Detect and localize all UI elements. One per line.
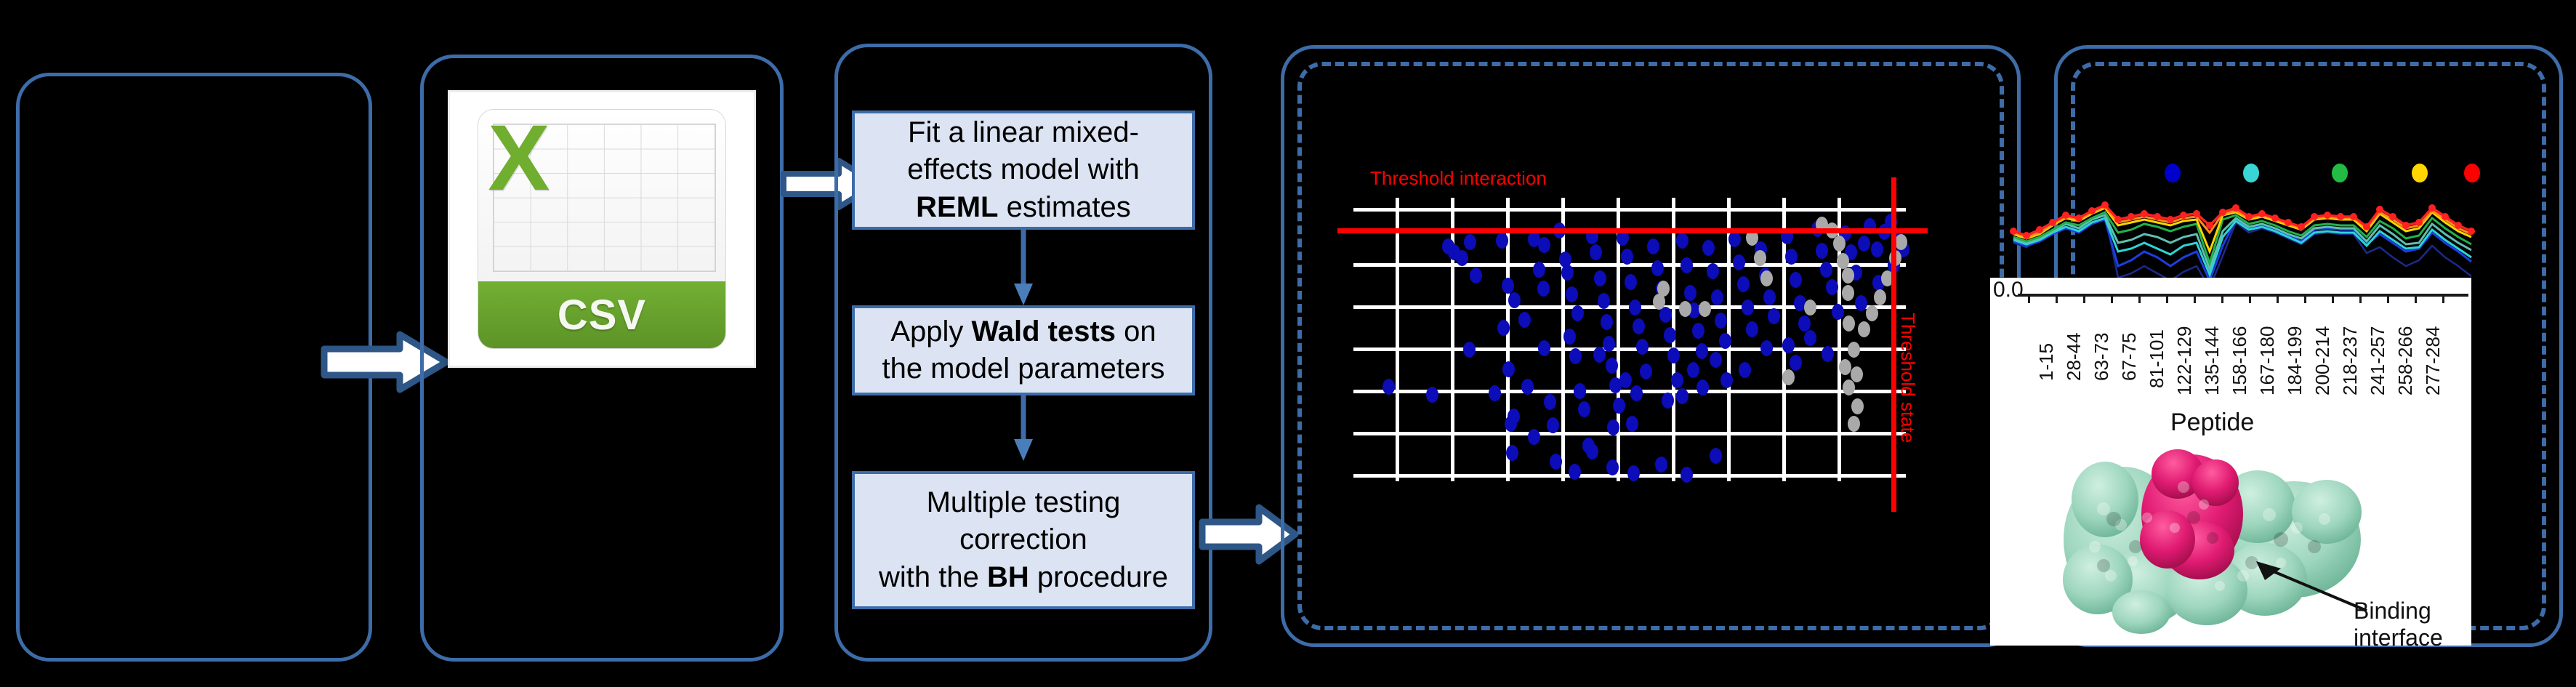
scatter-point — [1760, 340, 1773, 356]
x-axis-tick — [2249, 294, 2251, 303]
scatter-point — [1489, 385, 1501, 401]
scatter-point — [1629, 300, 1641, 316]
scatter-point — [1505, 416, 1517, 432]
scatter-point — [1607, 419, 1619, 435]
scatter-point — [1463, 342, 1476, 358]
peptide-tick-label: 167-180 — [2256, 326, 2279, 395]
scatter-point — [1655, 457, 1667, 473]
scatter-point — [1720, 372, 1733, 388]
scatter-point — [1456, 250, 1468, 266]
x-axis-tick — [2277, 294, 2279, 303]
scatter-point-ns — [1699, 301, 1711, 317]
grid-line-h — [1353, 208, 1906, 212]
scatter-point — [1855, 295, 1867, 311]
y-axis-tick-label: 0.0 — [1993, 278, 2024, 302]
scatter-point — [1619, 372, 1632, 388]
scatter-point — [1426, 387, 1438, 403]
peptide-tick-label: 1-15 — [2035, 343, 2058, 381]
scatter-point — [1707, 263, 1719, 279]
scatter-point-ns — [1843, 316, 1855, 332]
scatter-point-ns — [1653, 294, 1665, 310]
x-axis-tick — [2387, 294, 2389, 303]
scatter-point — [1822, 346, 1834, 362]
scatter-point — [1636, 339, 1649, 355]
scatter-point — [1470, 268, 1482, 284]
threshold-interaction-label: Threshold interaction — [1370, 167, 1547, 190]
scatter-point — [1382, 379, 1395, 395]
scatter-point — [1702, 240, 1715, 256]
scatter-point — [1676, 388, 1689, 404]
scatter-point — [1710, 352, 1722, 368]
legend-dot-yellow — [2412, 164, 2428, 182]
scatter-point — [1464, 234, 1476, 250]
step-bh-post: procedure — [1029, 561, 1168, 593]
x-axis-tick — [2304, 294, 2306, 303]
scatter-point — [1566, 286, 1578, 302]
x-axis-tick — [2056, 294, 2058, 303]
legend-dot-cyan — [2243, 164, 2259, 182]
scatter-point-ns — [1851, 366, 1863, 382]
scatter-point — [1606, 358, 1618, 374]
step-bh-line2: correction — [959, 523, 1087, 555]
scatter-point — [1538, 340, 1550, 356]
x-axis-tick — [2028, 294, 2030, 303]
scatter-point — [1804, 330, 1816, 346]
peptide-tick-label: 200-214 — [2311, 326, 2334, 395]
scatter-point — [1692, 323, 1704, 339]
legend-dot-green — [2332, 164, 2348, 182]
csv-label: CSV — [558, 291, 646, 340]
step-reml-box[interactable]: Fit a linear mixed- effects model with R… — [852, 111, 1195, 230]
csv-icon-body: X CSV — [478, 109, 727, 350]
scatter-point — [1502, 361, 1515, 377]
scatter-point-ns — [1895, 234, 1907, 250]
step-reml-post: estimates — [999, 191, 1131, 223]
step-wald-pre: Apply — [890, 316, 971, 347]
line-chart-svg — [2006, 153, 2529, 284]
step-bh-text: Multiple testing correction with the BH … — [879, 484, 1168, 596]
scatter-point — [1696, 343, 1708, 359]
x-axis-line — [2018, 294, 2468, 297]
scatter-point — [1561, 265, 1574, 281]
scatter-point — [1816, 243, 1828, 259]
scatter-point — [1728, 231, 1741, 247]
peptide-line-chart — [2006, 153, 2529, 284]
x-axis-tick — [2332, 294, 2334, 303]
scatter-point — [1633, 318, 1645, 334]
peptide-tick-label: 67-75 — [2118, 333, 2141, 382]
peptide-tick-label: 28-44 — [2063, 333, 2085, 382]
step-wald-post: on — [1116, 316, 1156, 347]
step-reml-line1: Fit a linear mixed- — [908, 116, 1139, 148]
step-wald-bold: Wald tests — [972, 316, 1116, 347]
scatter-point — [1647, 238, 1659, 254]
scatter-point-ns — [1874, 289, 1886, 305]
x-axis-tick — [2415, 294, 2417, 303]
scatter-point — [1798, 316, 1811, 332]
scatter-point — [1785, 249, 1798, 265]
scatter-point — [1826, 279, 1838, 295]
scatter-point-ns — [1782, 369, 1795, 385]
scatter-point — [1613, 398, 1625, 414]
scatter-point-ns — [1858, 321, 1870, 337]
scatter-point — [1627, 465, 1640, 481]
scatter-point — [1651, 260, 1664, 276]
threshold-interaction-line — [1337, 228, 1928, 233]
peptide-tick-label: 277-284 — [2422, 326, 2444, 395]
step-wald-line2: the model parameters — [882, 353, 1164, 385]
x-axis-tick — [2442, 294, 2444, 303]
scatter-point-ns — [1848, 342, 1860, 358]
scatter-point-ns — [1760, 270, 1773, 286]
scatter-point — [1626, 416, 1638, 432]
scatter-point — [1625, 274, 1637, 290]
grid-line-v — [1396, 198, 1399, 481]
scatter-point — [1496, 233, 1508, 249]
peptide-tick-label: 158-166 — [2229, 326, 2251, 395]
scatter-point — [1763, 289, 1776, 305]
peptide-tick-label: 122-129 — [2173, 326, 2196, 395]
grid-line-h — [1353, 432, 1906, 435]
scatter-point — [1667, 347, 1680, 363]
scatter-point-ns — [1851, 398, 1864, 414]
scatter-point — [1574, 383, 1586, 399]
scatter-point — [1711, 289, 1723, 305]
csv-label-band: CSV — [478, 281, 726, 348]
step-wald-text: Apply Wald tests on the model parameters — [882, 313, 1164, 387]
scatter-point — [1630, 385, 1643, 401]
scatter-point — [1533, 262, 1545, 278]
scatter-point — [1790, 355, 1802, 371]
scatter-point — [1586, 443, 1598, 459]
threshold-state-label: Threshold state — [1896, 313, 1919, 443]
x-axis-tick — [2359, 294, 2362, 303]
peptide-tick-label: 241-257 — [2367, 326, 2389, 395]
step-wald-box[interactable]: Apply Wald tests on the model parameters — [852, 305, 1195, 395]
x-axis-tick — [2138, 294, 2141, 303]
scatter-point — [1684, 285, 1696, 301]
threshold-state-line — [1891, 177, 1896, 512]
scatter-point — [1547, 417, 1559, 433]
scatter-point-ns — [1837, 253, 1849, 269]
peptide-tick-label: 258-266 — [2394, 326, 2417, 395]
scatter-point — [1506, 445, 1518, 461]
scatter-point — [1606, 459, 1619, 475]
scatter-plot-area — [1353, 198, 1906, 481]
volcano-scatter-plot — [1353, 198, 1906, 481]
x-axis-tick — [2194, 294, 2196, 303]
step-bh-bold: BH — [987, 561, 1029, 593]
scatter-point — [1710, 448, 1722, 464]
scatter-point — [1497, 320, 1510, 336]
peptide-structure-card: 0.0 1-15 28-44 63-73 67-75 81-101 122-12… — [1990, 278, 2471, 646]
peptide-tick-label: 135-144 — [2201, 326, 2223, 395]
scatter-point — [1681, 257, 1693, 273]
scatter-point — [1681, 467, 1693, 483]
scatter-point — [1790, 272, 1802, 288]
scatter-point — [1593, 347, 1606, 363]
step-bh-box[interactable]: Multiple testing correction with the BH … — [852, 471, 1195, 609]
scatter-point — [1733, 254, 1745, 270]
scatter-point — [1578, 401, 1590, 417]
scatter-point — [1502, 278, 1514, 294]
scatter-point — [1544, 394, 1556, 410]
step-reml-bold: REML — [916, 191, 998, 223]
scatter-point-ns — [1833, 236, 1846, 252]
binding-interface-line1: Binding — [2354, 598, 2443, 624]
peptide-tick-label: 184-199 — [2284, 326, 2306, 395]
scatter-point — [1739, 362, 1751, 378]
scatter-point — [1746, 321, 1758, 337]
scatter-point — [1594, 270, 1606, 286]
x-axis-tick — [2083, 294, 2085, 303]
x-axis-tick — [2166, 294, 2168, 303]
flowchart-canvas: X CSV Fit a linear mixed- effects model … — [0, 0, 2576, 687]
scatter-point — [1820, 262, 1832, 278]
scatter-point — [1768, 308, 1780, 324]
scatter-point — [1832, 304, 1844, 320]
step-reml-line2: effects model with — [907, 153, 1139, 185]
scatter-point — [1590, 244, 1602, 260]
scatter-point — [1518, 312, 1531, 328]
scatter-point — [1662, 393, 1674, 409]
scatter-point — [1538, 237, 1550, 253]
step-reml-text: Fit a linear mixed- effects model with R… — [907, 114, 1139, 226]
scatter-point — [1598, 293, 1610, 309]
scatter-point-ns — [1866, 305, 1878, 321]
scatter-point-ns — [1842, 285, 1854, 301]
binding-interface-line2: interface — [2354, 624, 2443, 646]
scatter-point-ns — [1754, 250, 1766, 266]
scatter-point — [1571, 305, 1584, 321]
scatter-point — [1521, 379, 1534, 395]
step-bh-pre: with the — [879, 561, 987, 593]
excel-x-glyph: X — [488, 119, 577, 229]
scatter-point-ns — [1804, 300, 1816, 316]
scatter-point — [1601, 314, 1613, 330]
scatter-point — [1719, 333, 1731, 349]
scatter-point-ns — [1843, 379, 1855, 395]
scatter-point — [1528, 429, 1540, 445]
scatter-point — [1569, 348, 1582, 364]
peptide-tick-label: 218-237 — [2339, 326, 2362, 395]
scatter-point — [1550, 454, 1562, 470]
scatter-point — [1537, 281, 1550, 297]
scatter-point — [1664, 327, 1676, 343]
scatter-point — [1640, 363, 1652, 379]
scatter-point — [1742, 300, 1754, 316]
scatter-point — [1659, 307, 1672, 323]
scatter-point — [1563, 329, 1576, 345]
scatter-point — [1858, 236, 1870, 252]
peptide-tick-label: 81-101 — [2146, 329, 2168, 388]
scatter-point — [1782, 337, 1795, 353]
x-axis-tick — [2111, 294, 2113, 303]
scatter-point — [1569, 464, 1581, 480]
scatter-point — [1696, 379, 1709, 395]
scatter-point — [1737, 276, 1750, 292]
binding-interface-label: Binding interface — [2354, 598, 2443, 646]
connector-reml-to-wald — [1014, 230, 1033, 307]
scatter-point — [1871, 241, 1883, 257]
connector-wald-to-bh — [1014, 395, 1033, 462]
scatter-point-ns — [1848, 416, 1860, 432]
step-bh-line1: Multiple testing — [927, 486, 1121, 518]
legend-dot-blue — [2165, 164, 2181, 182]
scatter-point-ns — [1842, 268, 1854, 284]
scatter-point — [1671, 372, 1683, 388]
scatter-point — [1676, 233, 1689, 249]
scatter-point — [1603, 336, 1615, 352]
csv-file-icon[interactable]: X CSV — [448, 90, 756, 368]
scatter-point — [1715, 313, 1727, 329]
scatter-point-ns — [1679, 301, 1691, 317]
legend-dot-red — [2464, 164, 2480, 182]
scatter-point-ns — [1839, 359, 1851, 375]
scatter-point — [1508, 292, 1521, 308]
scatter-point — [1687, 362, 1699, 378]
scatter-point — [1621, 249, 1633, 265]
x-axis-tick — [2221, 294, 2223, 303]
empty-input-stage — [16, 73, 372, 662]
peptide-tick-label: 63-73 — [2090, 333, 2113, 382]
